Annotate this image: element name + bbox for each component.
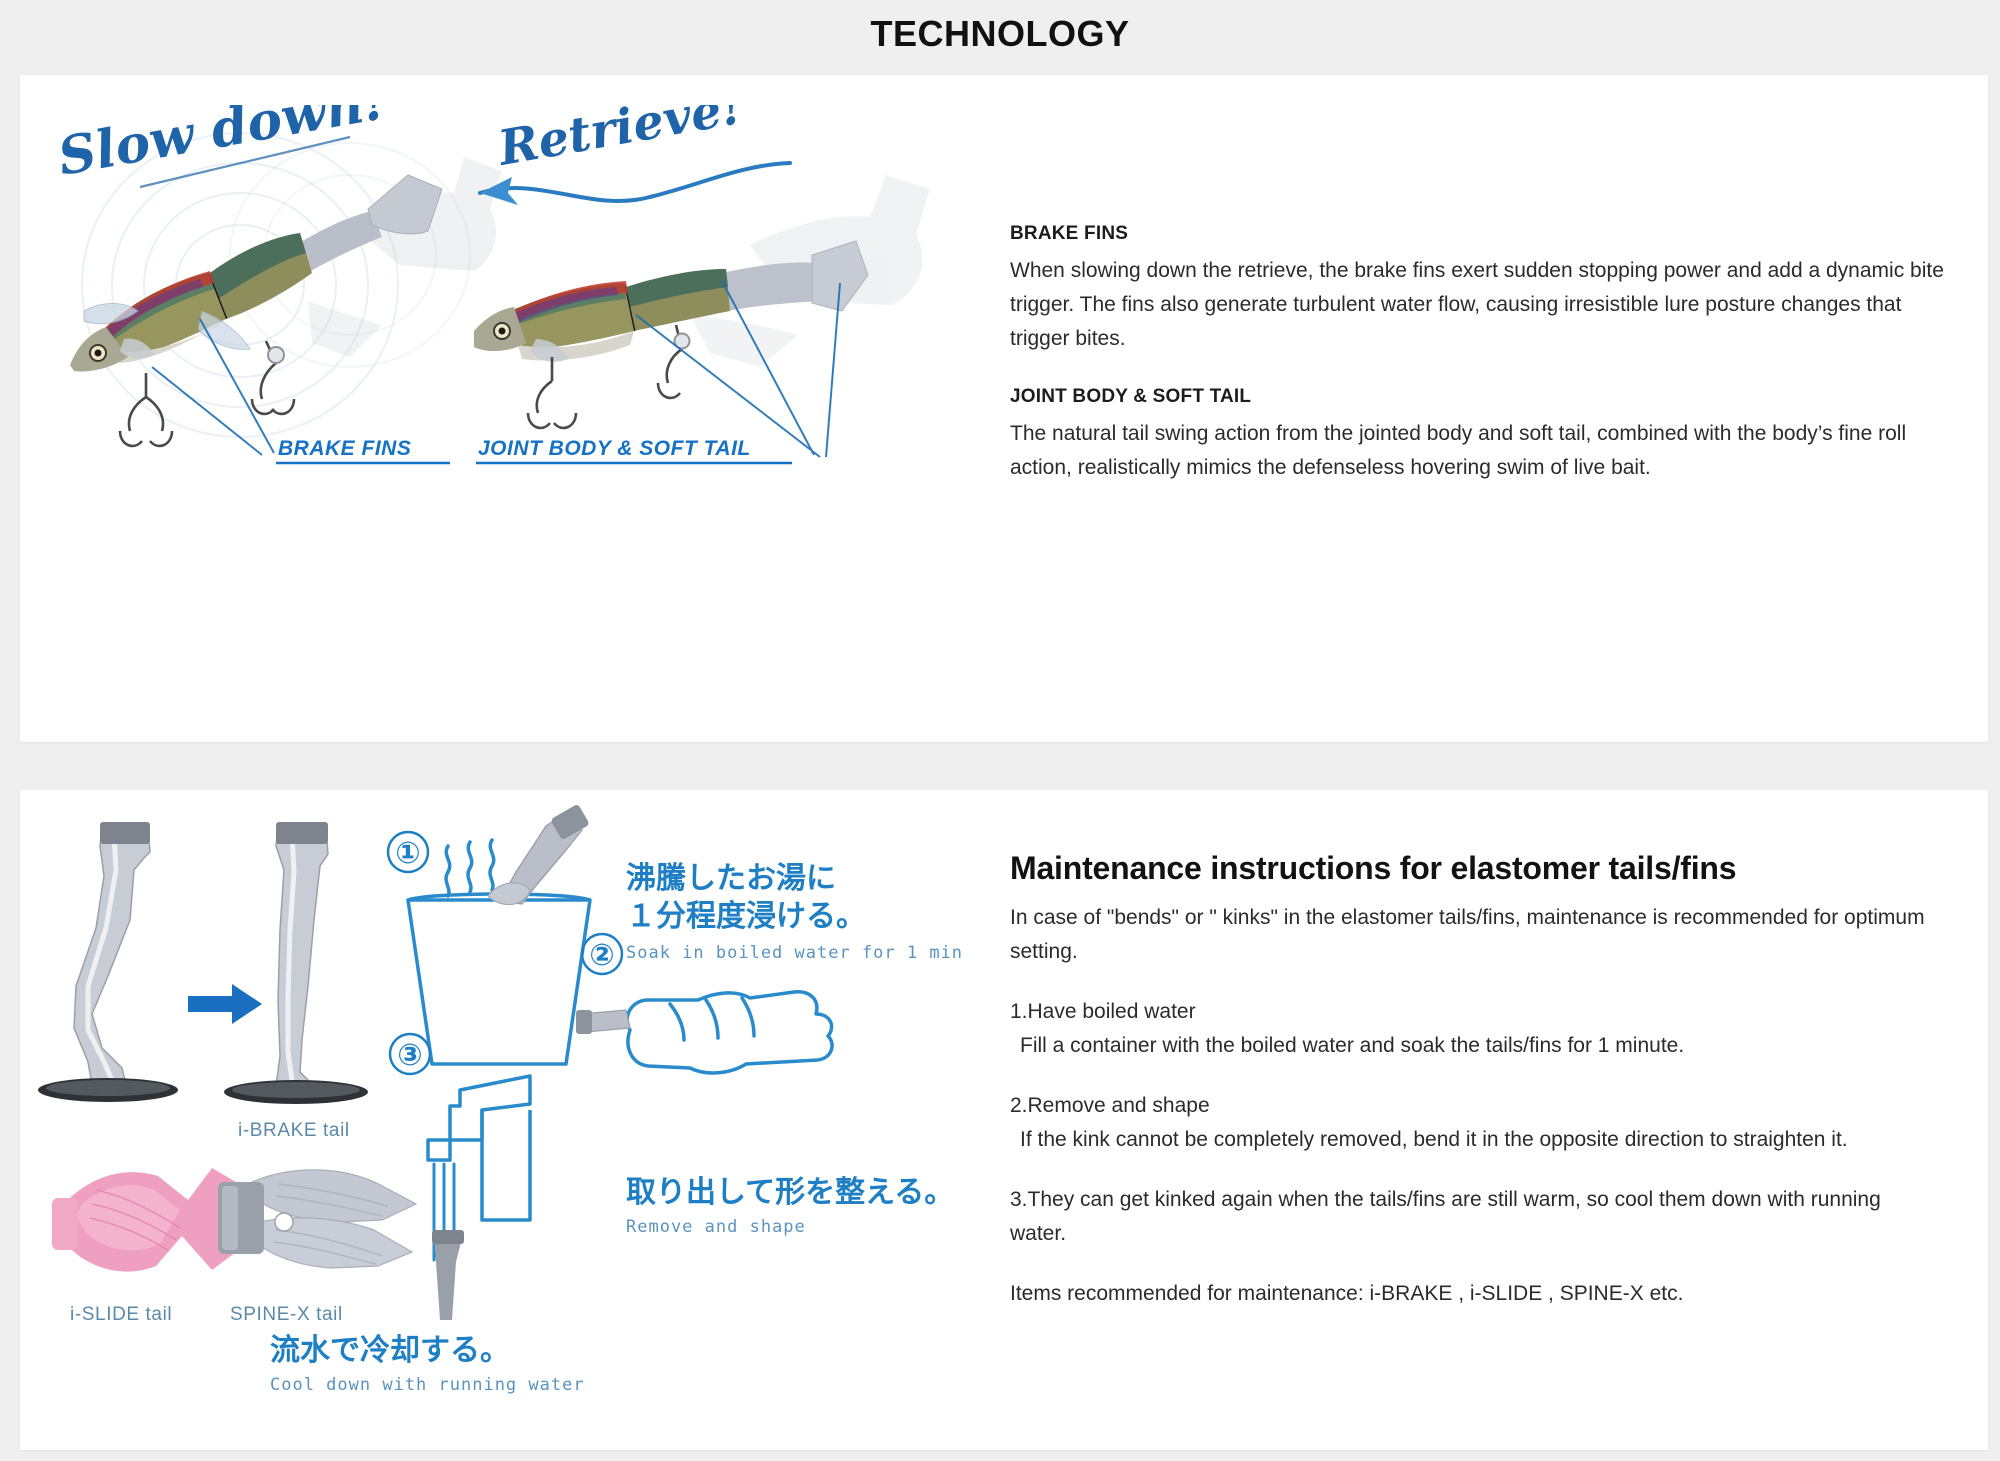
- islide-tail-caption: i-SLIDE tail: [70, 1304, 172, 1325]
- brake-fins-heading: BRAKE FINS: [1010, 223, 1948, 245]
- maintenance-heading: Maintenance instructions for elastomer t…: [1010, 850, 1948, 887]
- dipping-tail-icon: [488, 804, 590, 905]
- islide-tail-photo: [52, 1168, 236, 1272]
- spinex-tail-caption: SPINE-X tail: [230, 1304, 343, 1325]
- ibrake-tail-caption: i-BRAKE tail: [238, 1120, 350, 1141]
- maintenance-step-2-head: 2.Remove and shape: [1010, 1094, 1210, 1117]
- step-3-en: Cool down with running water: [270, 1375, 585, 1395]
- spinex-tail-photo: [218, 1170, 416, 1268]
- maintenance-step-1: 1.Have boiled water Fill a container wit…: [1010, 995, 1940, 1063]
- technology-figure: Slow down! BRAKE FINS: [20, 75, 1000, 742]
- maintenance-step-2: 2.Remove and shape If the kink cannot be…: [1010, 1089, 1940, 1157]
- maintenance-step-3: 3.They can get kinked again when the tai…: [1010, 1183, 1940, 1251]
- maintenance-figure: i-BRAKE tail i-SLIDE tail: [20, 790, 1000, 1450]
- step-3-number: ③: [397, 1038, 422, 1073]
- page-title: TECHNOLOGY: [0, 0, 2000, 62]
- step-2-illustration: ② 取り出して形を整える。 Remove and shape: [576, 934, 954, 1237]
- maintenance-illustration: i-BRAKE tail i-SLIDE tail: [30, 800, 1000, 1450]
- straight-tail-photo: [224, 822, 368, 1104]
- held-tail-icon: [576, 1010, 630, 1034]
- maintenance-panel: i-BRAKE tail i-SLIDE tail: [20, 790, 1988, 1450]
- maintenance-footer: Items recommended for maintenance: i-BRA…: [1010, 1277, 1940, 1311]
- maintenance-step-1-detail: Fill a container with the boiled water a…: [1010, 1029, 1940, 1063]
- maintenance-step-3-head: 3.They can get kinked again when the tai…: [1010, 1188, 1881, 1245]
- hand-icon: [627, 992, 832, 1073]
- bent-tail-photo: [38, 822, 178, 1102]
- joint-body-label: JOINT BODY & SOFT TAIL: [478, 437, 751, 460]
- lure-illustration: Slow down! BRAKE FINS: [50, 105, 1000, 535]
- brake-fins-label: BRAKE FINS: [278, 437, 411, 460]
- step-2-jp-line1: 取り出して形を整える。: [626, 1175, 954, 1210]
- maintenance-step-2-detail: If the kink cannot be completely removed…: [1010, 1123, 1940, 1157]
- steam-icon: [446, 840, 494, 896]
- transform-arrow-icon: [188, 984, 262, 1024]
- maintenance-intro: In case of "bends" or " kinks" in the el…: [1010, 901, 1940, 969]
- brake-fins-body: When slowing down the retrieve, the brak…: [1010, 254, 1948, 356]
- step-1-jp-line2: １分程度浸ける。: [626, 899, 866, 934]
- step-3-jp-line1: 流水で冷却する。: [270, 1333, 510, 1368]
- step-1-number: ①: [395, 836, 420, 871]
- step-1-en: Soak in boiled water for 1 min: [626, 943, 963, 963]
- step-2-number: ②: [589, 938, 614, 973]
- joint-body-heading: JOINT BODY & SOFT TAIL: [1010, 386, 1948, 408]
- technology-text-column: BRAKE FINS When slowing down the retriev…: [1000, 75, 1988, 742]
- retrieve-text: Retrieve!: [492, 105, 746, 177]
- step-2-en: Remove and shape: [626, 1217, 806, 1237]
- step-1-jp-line1: 沸騰したお湯に: [626, 861, 836, 896]
- step-1-illustration: ① 沸騰したお湯に: [388, 804, 963, 1064]
- retrieve-callout: Retrieve!: [480, 105, 790, 205]
- joint-body-body: The natural tail swing action from the j…: [1010, 417, 1948, 485]
- maintenance-text-column: Maintenance instructions for elastomer t…: [1000, 790, 1988, 1450]
- cup-icon: [408, 900, 590, 1064]
- maintenance-step-1-head: 1.Have boiled water: [1010, 1000, 1196, 1023]
- cooling-tail-icon: [432, 1230, 464, 1320]
- technology-panel: Slow down! BRAKE FINS: [20, 75, 1988, 742]
- lure-joint-body: [474, 241, 868, 428]
